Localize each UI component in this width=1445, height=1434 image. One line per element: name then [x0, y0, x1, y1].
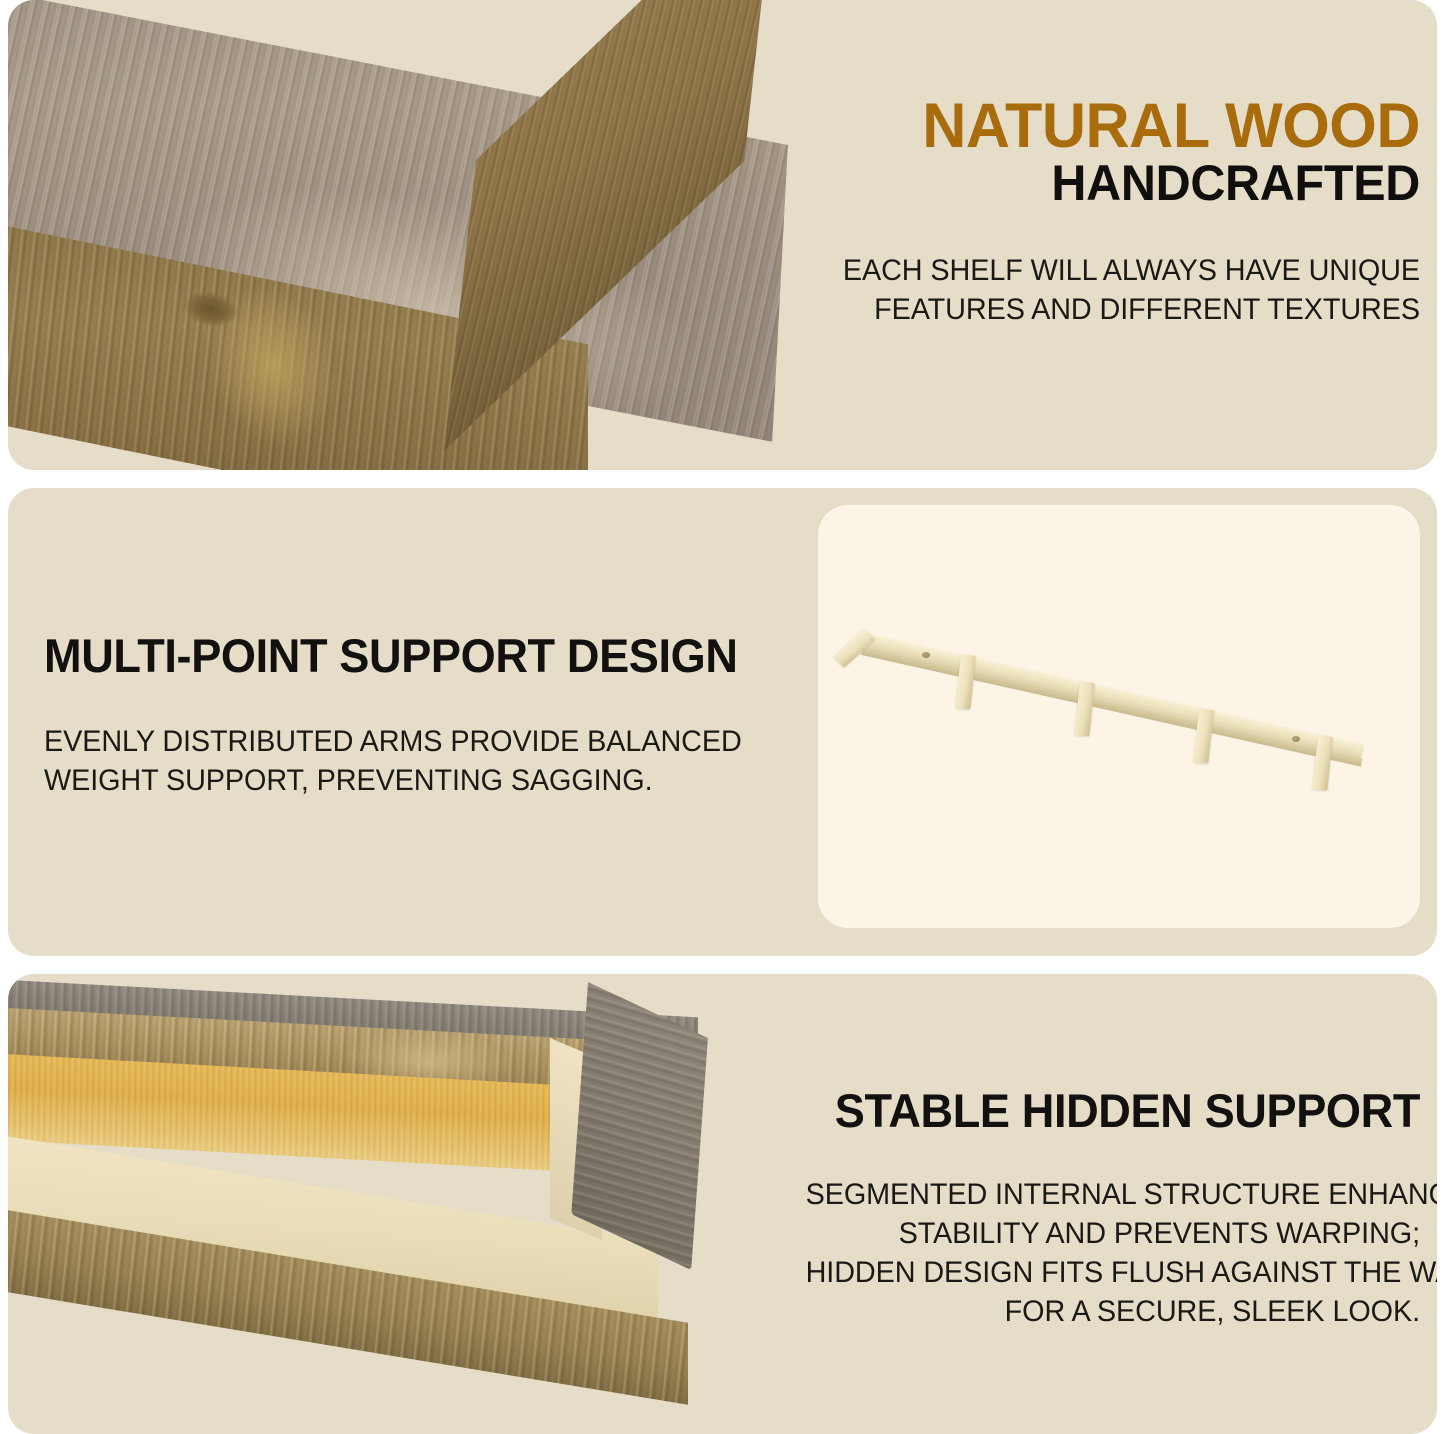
bracket-screw-hole-2 — [1292, 736, 1300, 742]
panel-natural-wood: NATURAL WOOD HANDCRAFTED EACH SHELF WILL… — [8, 0, 1437, 470]
panel-natural-wood-heading-black: HANDCRAFTED — [799, 158, 1420, 209]
panel-stable-hidden-support: STABLE HIDDEN SUPPORT SEGMENTED INTERNAL… — [8, 974, 1437, 1434]
panel-stable-hidden-heading: STABLE HIDDEN SUPPORT — [806, 1086, 1420, 1135]
panel-multi-point-text: MULTI-POINT SUPPORT DESIGN EVENLY DISTRI… — [44, 631, 804, 800]
panel-multi-point-heading: MULTI-POINT SUPPORT DESIGN — [44, 631, 774, 680]
panel-natural-wood-body: EACH SHELF WILL ALWAYS HAVE UNIQUE FEATU… — [780, 251, 1420, 329]
panel-multi-point-support: MULTI-POINT SUPPORT DESIGN EVENLY DISTRI… — [8, 488, 1437, 956]
panel-multi-point-body-line-2: WEIGHT SUPPORT, PREVENTING SAGGING. — [44, 761, 774, 800]
hollow-shelf-illustration — [8, 974, 838, 1374]
panel-stable-hidden-body: SEGMENTED INTERNAL STRUCTURE ENHANCES ST… — [780, 1175, 1420, 1331]
wood-shelf-plank-photo — [8, 0, 838, 470]
panel-multi-point-body-line-1: EVENLY DISTRIBUTED ARMS PROVIDE BALANCED — [44, 722, 774, 761]
panel-stable-hidden-body-line-4: FOR A SECURE, SLEEK LOOK. — [806, 1292, 1420, 1331]
panel-natural-wood-heading-accent: NATURAL WOOD — [799, 96, 1420, 158]
panel-stable-hidden-text: STABLE HIDDEN SUPPORT SEGMENTED INTERNAL… — [780, 1086, 1420, 1331]
panel-stable-hidden-body-line-2: STABILITY AND PREVENTS WARPING; — [806, 1214, 1420, 1253]
panel-natural-wood-body-line-1: EACH SHELF WILL ALWAYS HAVE UNIQUE — [806, 251, 1420, 290]
product-infographic: NATURAL WOOD HANDCRAFTED EACH SHELF WILL… — [0, 0, 1445, 1434]
panel-natural-wood-body-line-2: FEATURES AND DIFFERENT TEXTURES — [806, 290, 1420, 329]
bracket-screw-hole-1 — [922, 652, 930, 658]
panel-stable-hidden-body-line-3: HIDDEN DESIGN FITS FLUSH AGAINST THE WAL… — [806, 1253, 1420, 1292]
bracket-image-card — [818, 505, 1420, 928]
hollow-shelf-cutaway-photo — [8, 974, 838, 1434]
plank-illustration — [8, 0, 838, 470]
panel-multi-point-body: EVENLY DISTRIBUTED ARMS PROVIDE BALANCED… — [44, 722, 804, 800]
panel-stable-hidden-body-line-1: SEGMENTED INTERNAL STRUCTURE ENHANCES — [806, 1175, 1420, 1214]
wall-bracket-photo — [818, 505, 1420, 928]
panel-natural-wood-text: NATURAL WOOD HANDCRAFTED EACH SHELF WILL… — [780, 96, 1420, 329]
bracket-rail-edge — [861, 647, 1362, 766]
